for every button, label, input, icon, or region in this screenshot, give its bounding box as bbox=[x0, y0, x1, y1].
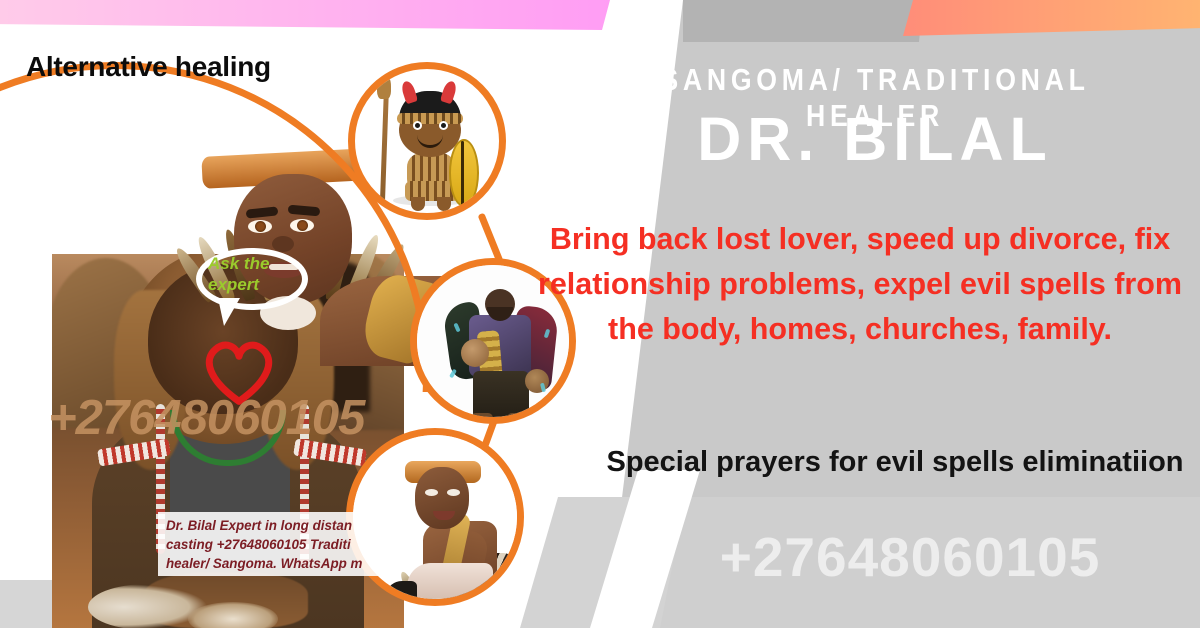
watermark-phone: +27648060105 bbox=[48, 390, 448, 446]
cartoon-shield bbox=[449, 139, 479, 207]
caption-line-3: healer/ Sangoma. WhatsApp m bbox=[166, 554, 374, 573]
page-title: Alternative healing bbox=[26, 51, 271, 83]
diviner-foot-left bbox=[471, 413, 493, 423]
poster-canvas: Alternative healing bbox=[0, 0, 1200, 628]
cartoon-plume-right bbox=[440, 80, 458, 105]
top-gray-band bbox=[683, 0, 923, 42]
cartoon-spear bbox=[380, 85, 389, 203]
caption-line-2: casting +27648060105 Traditi bbox=[166, 535, 374, 554]
healer-name: DR. BILAL bbox=[560, 104, 1190, 174]
speech-bubble-text: Ask the expert bbox=[208, 253, 308, 295]
divining-bones-right bbox=[188, 602, 278, 628]
diviner-drum-left bbox=[461, 339, 489, 367]
cartoon-plume-left bbox=[400, 80, 418, 105]
crouching-eye-right bbox=[447, 489, 460, 496]
cartoon-leg-right bbox=[437, 197, 451, 211]
cartoon-headband bbox=[397, 113, 463, 124]
cartoon-spearhead bbox=[377, 73, 391, 99]
cartoon-eye-left bbox=[413, 121, 422, 130]
cartoon-eye-right bbox=[439, 121, 448, 130]
crouching-eye-left bbox=[425, 489, 438, 496]
cartoon-shield-spine bbox=[461, 141, 464, 205]
caption-line-1: Dr. Bilal Expert in long distan bbox=[166, 516, 374, 535]
cartoon-leg-left bbox=[411, 197, 425, 211]
caption-box: Dr. Bilal Expert in long distan casting … bbox=[158, 512, 380, 576]
services-text: Bring back lost lover, speed up divorce,… bbox=[536, 217, 1184, 352]
subheading: Special prayers for evil spells eliminat… bbox=[600, 440, 1190, 484]
bubble-cartoon-zulu-warrior[interactable] bbox=[348, 62, 506, 220]
diviner-legs bbox=[473, 371, 529, 419]
phone-number: +27648060105 bbox=[620, 525, 1200, 589]
